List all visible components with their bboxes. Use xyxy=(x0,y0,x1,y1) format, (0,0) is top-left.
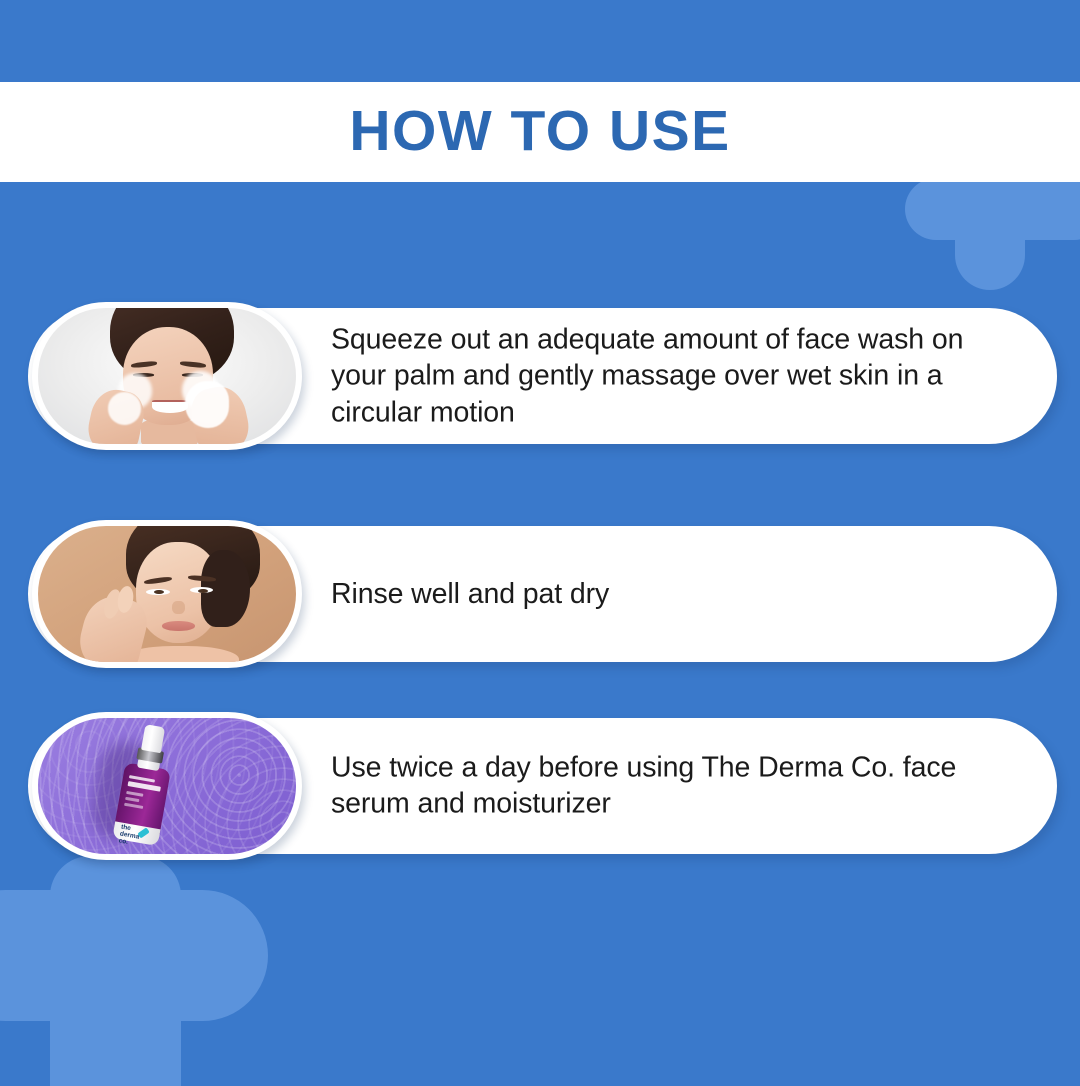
serum-bottle-illustration: the derma co. xyxy=(38,718,296,854)
step-card-3: the derma co. Use twice a day before usi… xyxy=(28,718,1057,854)
step-2-text: Rinse well and pat dry xyxy=(331,576,1017,612)
step-card-1: Squeeze out an adequate amount of face w… xyxy=(28,308,1057,444)
nose-shape xyxy=(172,601,185,615)
page-title: HOW TO USE xyxy=(349,103,730,160)
step-2-thumbnail xyxy=(32,520,302,668)
dropper-cap xyxy=(141,724,165,753)
clean-face-illustration xyxy=(38,526,296,662)
title-banner: HOW TO USE xyxy=(0,82,1080,182)
step-3-text: Use twice a day before using The Derma C… xyxy=(331,750,1017,823)
step-card-2: Rinse well and pat dry xyxy=(28,526,1057,662)
smiling-mouth-shape xyxy=(152,400,188,412)
derma-co-serum-bottle-photo: the derma co. xyxy=(38,718,296,854)
step-1-thumbnail xyxy=(32,302,302,450)
lips-shape xyxy=(162,621,196,631)
foam-lather-large xyxy=(185,381,229,427)
woman-touching-clean-face-photo xyxy=(38,526,296,662)
right-pupil-shape xyxy=(198,589,208,593)
woman-applying-face-wash-photo xyxy=(38,308,296,444)
foam-lather-small xyxy=(108,392,142,425)
step-1-text: Squeeze out an adequate amount of face w… xyxy=(331,321,1017,430)
how-to-use-steps-list: Squeeze out an adequate amount of face w… xyxy=(0,182,1080,1080)
step-3-thumbnail: the derma co. xyxy=(32,712,302,860)
top-blue-band xyxy=(0,0,1080,82)
face-wash-illustration xyxy=(38,308,296,444)
